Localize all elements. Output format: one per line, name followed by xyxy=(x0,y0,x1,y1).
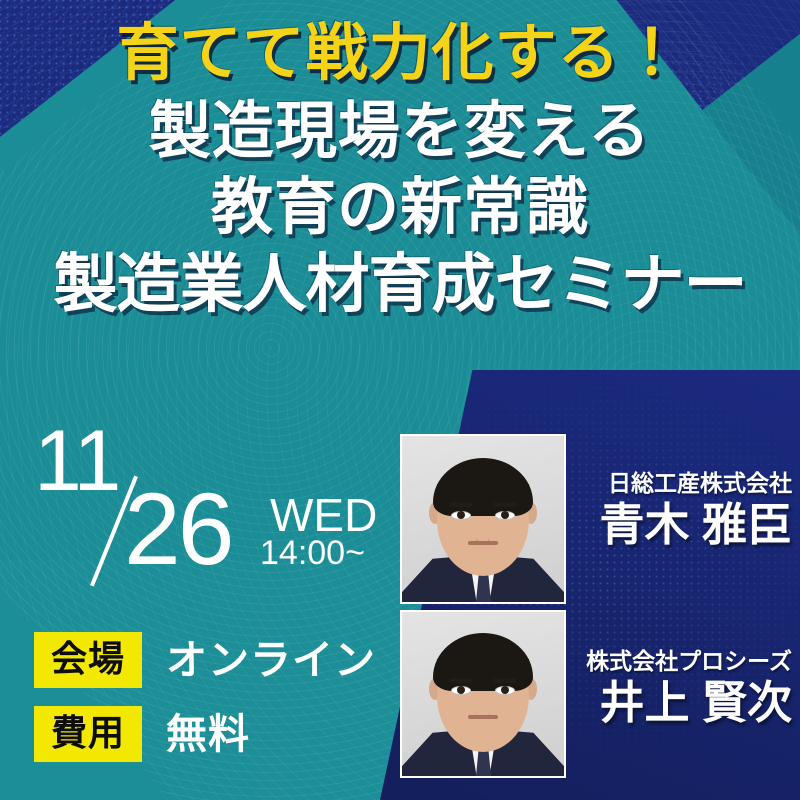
seminar-title: 製造業人材育成セミナー xyxy=(0,251,800,319)
portrait-illustration xyxy=(402,436,564,602)
speaker-2-name: 井上 賢次 xyxy=(564,678,792,728)
headline-catchcopy: 育てて戦力化する！ xyxy=(0,22,800,85)
seminar-banner: 育てて戦力化する！ 製造現場を変える 教育の新常識 製造業人材育成セミナー 11… xyxy=(0,0,800,800)
title-line-1: 製造現場を変える xyxy=(0,99,800,165)
fee-value: 無料 xyxy=(166,714,250,755)
speaker-info-1: 日総工産株式会社 青木 雅臣 xyxy=(564,470,792,550)
date-day-of-week: WED xyxy=(270,492,377,538)
speaker-2-company: 株式会社プロシーズ xyxy=(564,648,792,674)
title-line-2: 教育の新常識 xyxy=(0,175,800,241)
speaker-photo-1 xyxy=(400,434,566,604)
portrait-illustration xyxy=(402,612,564,776)
info-row-venue: 会場 オンライン xyxy=(34,632,376,688)
date-start-time: 14:00~ xyxy=(260,536,365,570)
speaker-photo-2 xyxy=(400,610,566,778)
speaker-info-2: 株式会社プロシーズ 井上 賢次 xyxy=(564,648,792,728)
venue-label-badge: 会場 xyxy=(34,632,142,688)
date-day: 26 xyxy=(124,478,231,580)
venue-value: オンライン xyxy=(166,640,376,681)
date-month: 11 xyxy=(34,418,119,504)
fee-label-badge: 費用 xyxy=(34,706,142,762)
headline-block: 育てて戦力化する！ 製造現場を変える 教育の新常識 製造業人材育成セミナー xyxy=(0,22,800,319)
event-date-block: 11 26 WED 14:00~ xyxy=(28,424,388,584)
info-row-fee: 費用 無料 xyxy=(34,706,376,762)
event-info-block: 会場 オンライン 費用 無料 xyxy=(34,632,376,780)
speaker-1-company: 日総工産株式会社 xyxy=(564,470,792,496)
speaker-1-name: 青木 雅臣 xyxy=(564,500,792,550)
